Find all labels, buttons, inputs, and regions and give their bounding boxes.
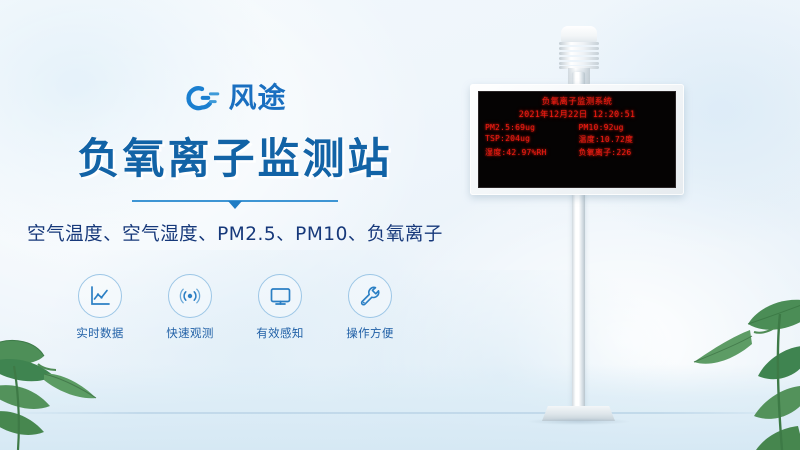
led-reading-temperature: 温度:10.72度 bbox=[579, 134, 670, 145]
monitoring-station: 负氧离子监测系统 2021年12月22日 12:20:51 PM2.5:69ug… bbox=[468, 14, 718, 434]
feature-item-easy-operation: 操作方便 bbox=[339, 274, 401, 341]
brand-name: 风途 bbox=[228, 83, 286, 113]
line-chart-icon bbox=[88, 284, 112, 308]
title-divider bbox=[132, 197, 338, 209]
brand-logo: 风途 bbox=[0, 78, 470, 118]
page-title: 负氧离子监测站 bbox=[0, 125, 470, 186]
sensor-plates bbox=[559, 42, 599, 69]
feature-list: 实时数据 快速观测 bbox=[0, 274, 470, 341]
feature-label: 有效感知 bbox=[249, 325, 311, 341]
feature-icon-circle bbox=[348, 274, 392, 318]
led-content: 负氧离子监测系统 2021年12月22日 12:20:51 PM2.5:69ug… bbox=[479, 95, 675, 158]
led-reading-pm10: PM10:92ug bbox=[579, 123, 670, 132]
led-header: 负氧离子监测系统 bbox=[479, 95, 675, 107]
feature-item-effective-sensing: 有效感知 bbox=[249, 274, 311, 341]
wrench-icon bbox=[358, 284, 382, 308]
led-reading-negative-oxygen-ions: 负氧离子:226 bbox=[579, 147, 670, 158]
led-screen: 负氧离子监测系统 2021年12月22日 12:20:51 PM2.5:69ug… bbox=[478, 91, 676, 188]
feature-label: 实时数据 bbox=[69, 325, 131, 341]
promo-banner: 风途 负氧离子监测站 空气温度、空气湿度、PM2.5、PM10、负氧离子 实时数… bbox=[0, 0, 800, 450]
feature-icon-circle bbox=[168, 274, 212, 318]
feature-label: 快速观测 bbox=[159, 325, 221, 341]
feature-item-realtime-data: 实时数据 bbox=[69, 274, 131, 341]
feature-item-fast-observation: 快速观测 bbox=[159, 274, 221, 341]
led-datetime: 2021年12月22日 12:20:51 bbox=[479, 108, 675, 120]
led-display-panel: 负氧离子监测系统 2021年12月22日 12:20:51 PM2.5:69ug… bbox=[470, 84, 684, 195]
hero-subtitle: 空气温度、空气湿度、PM2.5、PM10、负氧离子 bbox=[0, 220, 470, 246]
feature-icon-circle bbox=[258, 274, 302, 318]
led-readings-grid: PM2.5:69ug PM10:92ug TSP:204ug 温度:10.72度… bbox=[479, 123, 675, 158]
base-shadow bbox=[528, 418, 630, 425]
sensor-cap bbox=[561, 26, 597, 43]
feature-icon-circle bbox=[78, 274, 122, 318]
led-reading-pm25: PM2.5:69ug bbox=[485, 123, 576, 132]
led-reading-humidity: 湿度:42.97%RH bbox=[485, 147, 576, 158]
monitor-icon bbox=[268, 284, 293, 308]
wind-g-logo-icon bbox=[183, 83, 221, 113]
radar-signal-icon bbox=[178, 284, 202, 308]
feature-label: 操作方便 bbox=[339, 325, 401, 341]
divider-triangle-icon bbox=[228, 201, 242, 209]
hero-text-block: 风途 负氧离子监测站 空气温度、空气湿度、PM2.5、PM10、负氧离子 实时数… bbox=[0, 78, 470, 341]
led-reading-tsp: TSP:204ug bbox=[485, 134, 576, 145]
